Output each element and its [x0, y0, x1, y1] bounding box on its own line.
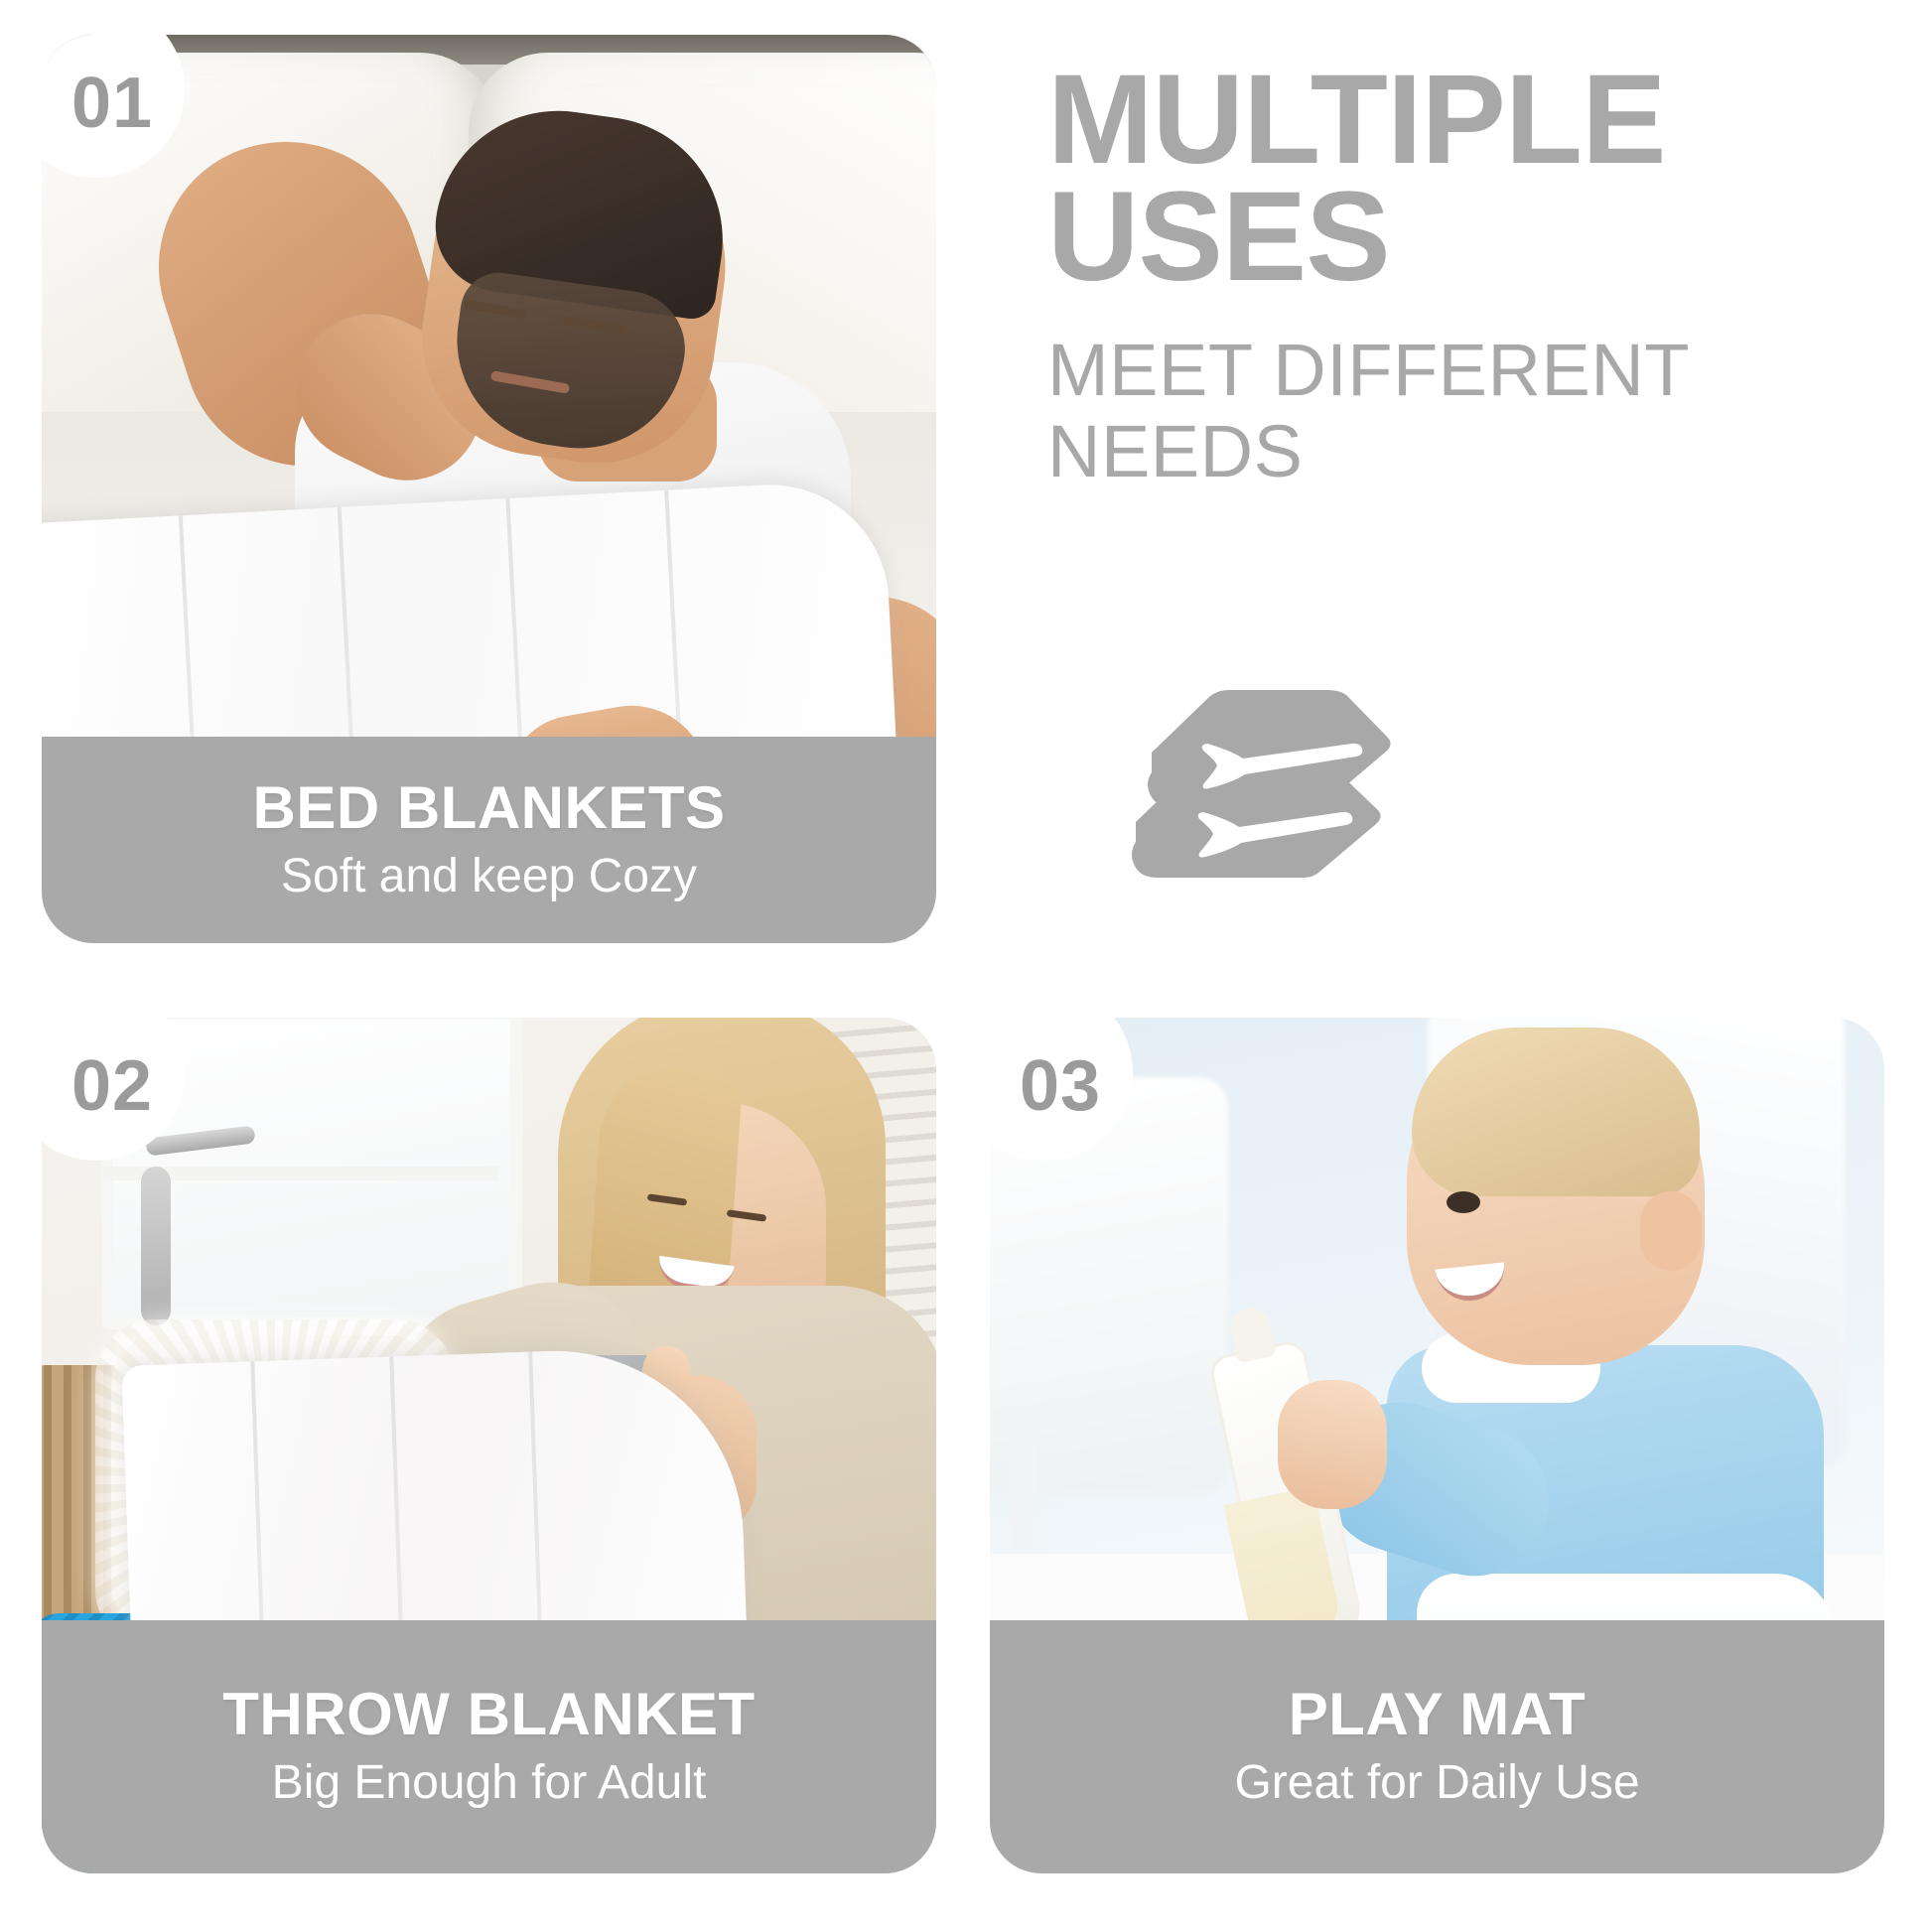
heading-title: MULTIPLE USES [1047, 62, 1891, 296]
card-2-title: THROW BLANKET [222, 1683, 755, 1745]
heading-subtitle-line1: MEET DIFFERENT [1047, 330, 1891, 412]
card-2-caption: THROW BLANKET Big Enough for Adult [42, 1620, 936, 1873]
card-2-subtitle: Big Enough for Adult [272, 1755, 707, 1810]
use-case-card-1[interactable]: 01 BED BLANKETS Soft and keep Cozy [42, 35, 936, 943]
use-case-card-2[interactable]: 02 THROW BLANKET Big Enough for Adult [42, 1018, 936, 1873]
use-case-card-3[interactable]: 03 PLAY MAT Great for Daily Use [990, 1018, 1884, 1873]
heading-block: MULTIPLE USES MEET DIFFERENT NEEDS [1047, 62, 1891, 493]
card-1-number: 01 [71, 63, 153, 144]
card-3-caption: PLAY MAT Great for Daily Use [990, 1620, 1884, 1873]
card-1-caption: BED BLANKETS Soft and keep Cozy [42, 737, 936, 943]
card-3-subtitle: Great for Daily Use [1234, 1755, 1639, 1810]
card-1-title: BED BLANKETS [252, 776, 725, 839]
card-3-number: 03 [1020, 1045, 1101, 1127]
heading-title-line1: MULTIPLE [1047, 62, 1891, 179]
multiple-uses-infographic: MULTIPLE USES MEET DIFFERENT NEEDS [0, 0, 1932, 1932]
stacked-folded-blankets-icon [1092, 635, 1420, 884]
heading-subtitle: MEET DIFFERENT NEEDS [1047, 330, 1891, 494]
heading-subtitle-line2: NEEDS [1047, 411, 1891, 493]
card-3-title: PLAY MAT [1289, 1683, 1587, 1745]
heading-title-line2: USES [1047, 179, 1891, 296]
card-2-number: 02 [71, 1045, 153, 1127]
card-1-subtitle: Soft and keep Cozy [281, 849, 697, 903]
